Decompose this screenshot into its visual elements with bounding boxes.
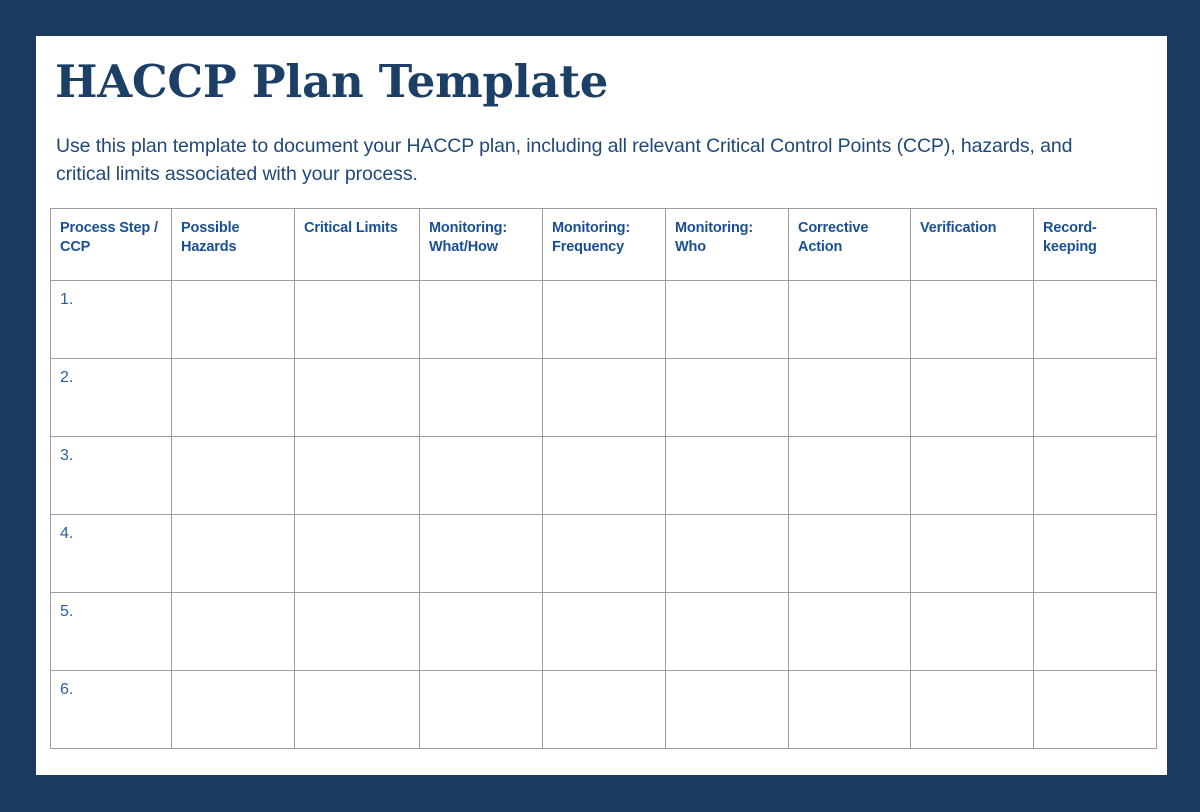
row-number-label: 4. (60, 524, 163, 544)
row-number-label: 6. (60, 680, 163, 700)
cell-critical-limits[interactable] (295, 593, 420, 671)
table-row: 6. (51, 671, 1157, 749)
row-number-label: 3. (60, 446, 163, 466)
haccp-table-wrapper: Process Step / CCP Possible Hazards Crit… (50, 208, 1152, 749)
row-number-cell[interactable]: 6. (51, 671, 172, 749)
row-number-cell[interactable]: 2. (51, 359, 172, 437)
cell-corrective-action[interactable] (789, 593, 911, 671)
cell-critical-limits[interactable] (295, 359, 420, 437)
row-number-cell[interactable]: 5. (51, 593, 172, 671)
cell-monitoring-who[interactable] (666, 671, 789, 749)
cell-verification[interactable] (911, 593, 1034, 671)
column-header-critical-limits: Critical Limits (295, 209, 420, 281)
cell-monitoring-frequency[interactable] (543, 281, 666, 359)
cell-monitoring-who[interactable] (666, 359, 789, 437)
cell-record-keeping[interactable] (1034, 515, 1157, 593)
column-header-process-step: Process Step / CCP (51, 209, 172, 281)
cell-critical-limits[interactable] (295, 671, 420, 749)
cell-possible-hazards[interactable] (172, 593, 295, 671)
cell-verification[interactable] (911, 281, 1034, 359)
row-number-label: 5. (60, 602, 163, 622)
cell-record-keeping[interactable] (1034, 359, 1157, 437)
cell-corrective-action[interactable] (789, 359, 911, 437)
table-header-row: Process Step / CCP Possible Hazards Crit… (51, 209, 1157, 281)
cell-monitoring-what-how[interactable] (420, 515, 543, 593)
cell-corrective-action[interactable] (789, 515, 911, 593)
cell-monitoring-what-how[interactable] (420, 671, 543, 749)
document-card: HACCP Plan Template Use this plan templa… (36, 36, 1167, 775)
cell-verification[interactable] (911, 359, 1034, 437)
cell-verification[interactable] (911, 515, 1034, 593)
table-row: 5. (51, 593, 1157, 671)
cell-monitoring-what-how[interactable] (420, 359, 543, 437)
page-title: HACCP Plan Template (55, 57, 608, 107)
cell-monitoring-what-how[interactable] (420, 437, 543, 515)
cell-monitoring-what-how[interactable] (420, 281, 543, 359)
page-frame: HACCP Plan Template Use this plan templa… (0, 0, 1200, 812)
cell-possible-hazards[interactable] (172, 437, 295, 515)
cell-corrective-action[interactable] (789, 437, 911, 515)
column-header-record-keeping: Record-keeping (1034, 209, 1157, 281)
table-row: 2. (51, 359, 1157, 437)
cell-monitoring-frequency[interactable] (543, 359, 666, 437)
column-header-corrective-action: Corrective Action (789, 209, 911, 281)
column-header-possible-hazards: Possible Hazards (172, 209, 295, 281)
cell-monitoring-who[interactable] (666, 437, 789, 515)
cell-record-keeping[interactable] (1034, 671, 1157, 749)
column-header-monitoring-who: Monitoring: Who (666, 209, 789, 281)
table-row: 4. (51, 515, 1157, 593)
cell-critical-limits[interactable] (295, 515, 420, 593)
cell-monitoring-who[interactable] (666, 593, 789, 671)
cell-possible-hazards[interactable] (172, 281, 295, 359)
cell-possible-hazards[interactable] (172, 515, 295, 593)
cell-verification[interactable] (911, 437, 1034, 515)
cell-monitoring-frequency[interactable] (543, 437, 666, 515)
cell-monitoring-who[interactable] (666, 515, 789, 593)
table-row: 1. (51, 281, 1157, 359)
cell-record-keeping[interactable] (1034, 593, 1157, 671)
cell-record-keeping[interactable] (1034, 281, 1157, 359)
cell-monitoring-what-how[interactable] (420, 593, 543, 671)
column-header-monitoring-frequency: Monitoring: Frequency (543, 209, 666, 281)
row-number-label: 1. (60, 290, 163, 310)
table-row: 3. (51, 437, 1157, 515)
cell-monitoring-frequency[interactable] (543, 671, 666, 749)
cell-monitoring-frequency[interactable] (543, 593, 666, 671)
cell-corrective-action[interactable] (789, 671, 911, 749)
row-number-cell[interactable]: 4. (51, 515, 172, 593)
haccp-plan-table: Process Step / CCP Possible Hazards Crit… (50, 208, 1157, 749)
cell-critical-limits[interactable] (295, 281, 420, 359)
row-number-cell[interactable]: 3. (51, 437, 172, 515)
cell-possible-hazards[interactable] (172, 671, 295, 749)
cell-corrective-action[interactable] (789, 281, 911, 359)
cell-monitoring-who[interactable] (666, 281, 789, 359)
row-number-cell[interactable]: 1. (51, 281, 172, 359)
cell-possible-hazards[interactable] (172, 359, 295, 437)
cell-monitoring-frequency[interactable] (543, 515, 666, 593)
column-header-verification: Verification (911, 209, 1034, 281)
cell-record-keeping[interactable] (1034, 437, 1157, 515)
cell-critical-limits[interactable] (295, 437, 420, 515)
row-number-label: 2. (60, 368, 163, 388)
page-subtitle: Use this plan template to document your … (56, 132, 1126, 188)
column-header-monitoring-what-how: Monitoring: What/How (420, 209, 543, 281)
cell-verification[interactable] (911, 671, 1034, 749)
